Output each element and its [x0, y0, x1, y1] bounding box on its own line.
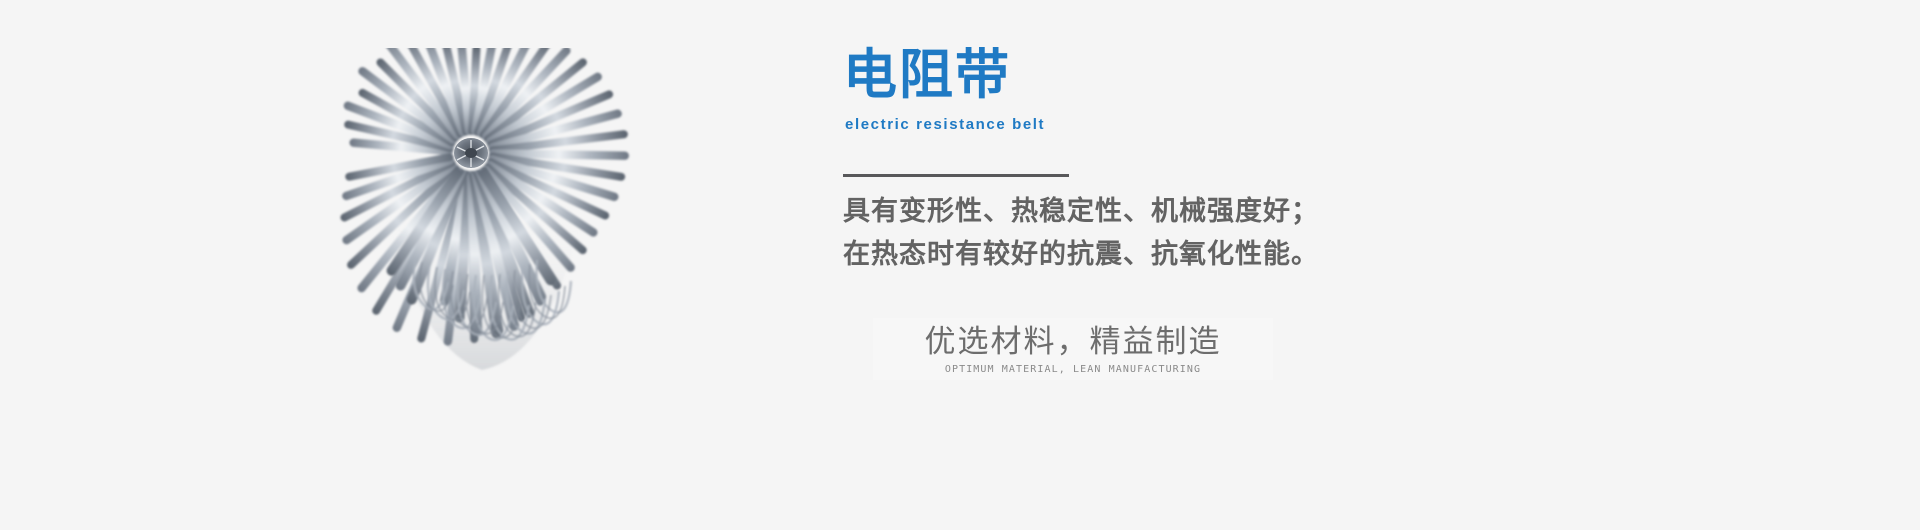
- tagline-english: OPTIMUM MATERIAL, LEAN MANUFACTURING: [873, 363, 1273, 377]
- description-text: 具有变形性、热稳定性、机械强度好； 在热态时有较好的抗震、抗氧化性能。: [843, 190, 1483, 276]
- belt-hub: [454, 138, 488, 168]
- tagline-block: 优选材料，精益制造 OPTIMUM MATERIAL, LEAN MANUFAC…: [873, 318, 1273, 380]
- tagline-chinese: 优选材料，精益制造: [873, 322, 1273, 362]
- banner-content: 电阻带 electric resistance belt 具有变形性、热稳定性、…: [843, 0, 1843, 530]
- product-banner: 电阻带 electric resistance belt 具有变形性、热稳定性、…: [0, 0, 1920, 530]
- description-line-1: 具有变形性、热稳定性、机械强度好；: [843, 190, 1483, 233]
- description-line-2: 在热态时有较好的抗震、抗氧化性能。: [843, 233, 1483, 276]
- title-divider: [843, 174, 1069, 177]
- product-image: [296, 48, 656, 378]
- heading-block: 电阻带 electric resistance belt: [843, 46, 1363, 134]
- page-subtitle: electric resistance belt: [845, 116, 1363, 134]
- resistance-belt-illustration: [296, 48, 656, 378]
- page-title: 电阻带: [843, 46, 1363, 104]
